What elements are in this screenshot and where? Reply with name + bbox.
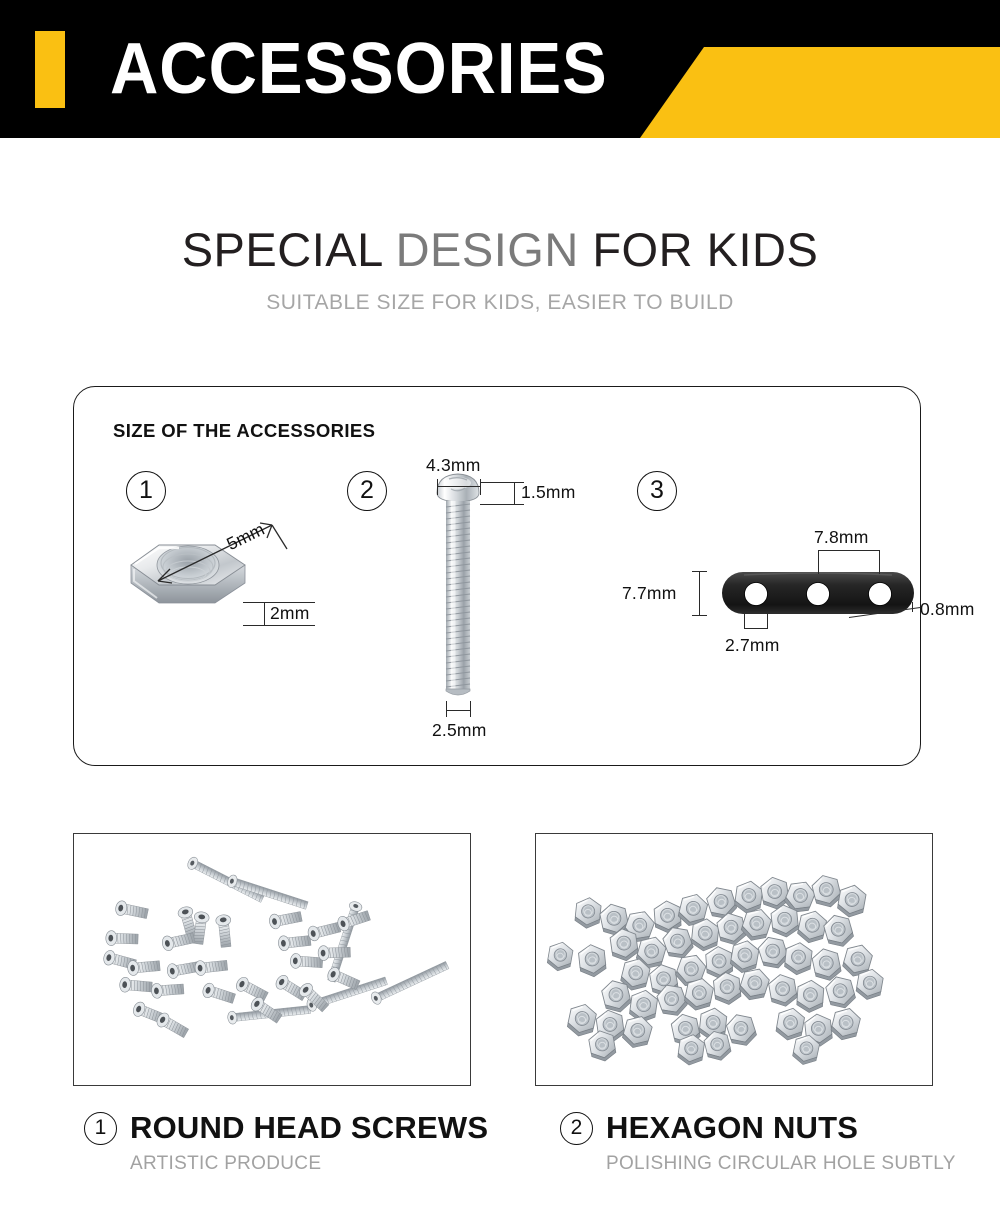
- product-caption-screws-row: 1 ROUND HEAD SCREWS: [84, 1110, 488, 1146]
- product-marker-2-label: 2: [571, 1117, 583, 1138]
- screw-shaft-width-label: 2.5mm: [432, 720, 486, 741]
- screw-shaft-tick-right: [470, 701, 471, 717]
- strip-thickness-tick: [912, 602, 913, 612]
- page-title: ACCESSORIES: [110, 27, 608, 111]
- screw-head-width-label: 4.3mm: [426, 455, 480, 476]
- spec-card-title: SIZE OF THE ACCESSORIES: [113, 420, 375, 442]
- screw-shaft-tick-left: [446, 701, 447, 717]
- product-marker-1-label: 1: [95, 1117, 107, 1138]
- connector-strip-illustration: [720, 567, 916, 629]
- strip-hole-diameter-tick-left: [744, 613, 745, 629]
- spec-marker-2: 2: [347, 471, 387, 511]
- photo-panel-screws: [73, 833, 471, 1086]
- strip-hole-diameter-tick-right: [767, 613, 768, 629]
- strip-hole-spacing-tick-left: [818, 550, 819, 574]
- product-subtitle-nuts: POLISHING CIRCULAR HOLE SUBTLY: [606, 1152, 956, 1176]
- screw-head-height-tick: [514, 482, 515, 505]
- header-accent-bar: [35, 31, 65, 108]
- screw-head-height-leader-bottom: [480, 504, 524, 505]
- strip-width-tick-top: [692, 571, 707, 572]
- screw-head-height-leader-top: [480, 482, 524, 483]
- strip-width-tick-bottom: [692, 615, 707, 616]
- photo-panel-nuts: [535, 833, 933, 1086]
- nut-thickness-tick: [264, 602, 265, 626]
- strip-hole-spacing-label: 7.8mm: [814, 527, 868, 548]
- accessory-size-card: SIZE OF THE ACCESSORIES 1: [73, 386, 921, 766]
- product-caption-screws: 1 ROUND HEAD SCREWS ARTISTIC PRODUCE: [84, 1110, 488, 1176]
- strip-hole-spacing-tick-right: [879, 550, 880, 574]
- product-subtitle-screws: ARTISTIC PRODUCE: [130, 1152, 488, 1176]
- screw-shaft-width-line: [446, 710, 471, 711]
- infographic-page: ACCESSORIES SPECIAL DESIGN FOR KIDS SUIT…: [0, 0, 1000, 1228]
- hero-subheading: SUITABLE SIZE FOR KIDS, EASIER TO BUILD: [0, 290, 1000, 316]
- header-yellow-parallelogram: [640, 47, 1000, 138]
- spec-marker-1: 1: [126, 471, 166, 511]
- spec-marker-3: 3: [637, 471, 677, 511]
- spec-marker-3-label: 3: [650, 478, 664, 503]
- product-caption-nuts-row: 2 HEXAGON NUTS: [560, 1110, 956, 1146]
- hero-heading-part3: FOR KIDS: [579, 223, 819, 276]
- strip-width-label: 7.7mm: [622, 583, 676, 604]
- spec-marker-2-label: 2: [360, 478, 374, 503]
- strip-thickness-label: 0.8mm: [920, 599, 974, 620]
- page-header: ACCESSORIES: [0, 0, 1000, 138]
- hero-heading-part1: SPECIAL: [182, 223, 396, 276]
- strip-hole-spacing-line: [818, 550, 880, 551]
- screw-head-width-tick-left: [437, 479, 438, 495]
- spec-marker-1-label: 1: [139, 478, 153, 503]
- product-marker-1: 1: [84, 1112, 117, 1145]
- hero-heading: SPECIAL DESIGN FOR KIDS: [0, 222, 1000, 278]
- nut-thickness-leader-bottom: [243, 625, 315, 626]
- screws-photo: [74, 834, 470, 1085]
- hero-heading-part2: DESIGN: [396, 223, 579, 276]
- hero-title-block: SPECIAL DESIGN FOR KIDS SUITABLE SIZE FO…: [0, 222, 1000, 316]
- product-title-nuts: HEXAGON NUTS: [606, 1110, 858, 1146]
- strip-width-line: [699, 571, 700, 616]
- screw-head-height-label: 1.5mm: [521, 482, 575, 503]
- product-title-screws: ROUND HEAD SCREWS: [130, 1110, 488, 1146]
- screw-head-width-line: [437, 486, 481, 487]
- nut-thickness-label: 2mm: [270, 603, 310, 624]
- strip-hole-diameter-line: [744, 628, 768, 629]
- product-caption-nuts: 2 HEXAGON NUTS POLISHING CIRCULAR HOLE S…: [560, 1110, 956, 1176]
- product-marker-2: 2: [560, 1112, 593, 1145]
- strip-hole-diameter-label: 2.7mm: [725, 635, 779, 656]
- nuts-photo: [536, 834, 932, 1085]
